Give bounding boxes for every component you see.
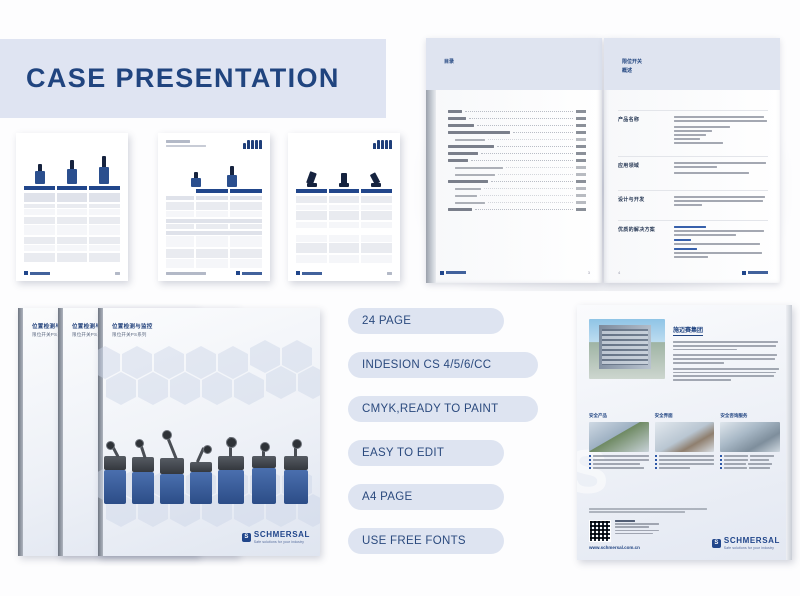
column-photo (589, 422, 649, 452)
feature-list: 24 PAGE INDESION CS 4/5/6/CC CMYK,READY … (348, 308, 538, 572)
brand-logo: S SCHMERSAL Safe solutions for your indu… (712, 537, 780, 550)
toc-subentry (455, 166, 586, 169)
toc-entry (448, 159, 586, 162)
feature-label: USE FREE FONTS (362, 535, 466, 547)
table-header-bar (296, 189, 392, 193)
table-row (24, 237, 120, 244)
feature-pill-page-size[interactable]: A4 PAGE (348, 484, 504, 510)
cover-title-line2: 限位开关PS系列 (112, 332, 153, 338)
bullet-item (589, 459, 649, 461)
lite-logo-icon (373, 140, 392, 149)
bullet-item (720, 467, 780, 469)
table-row (24, 209, 120, 215)
contact-details (615, 520, 659, 536)
qr-code-icon[interactable] (589, 520, 611, 542)
brand-name: SCHMERSAL (254, 531, 310, 539)
building-photo (589, 319, 665, 379)
table-row (24, 225, 120, 235)
website-url[interactable]: www.schmersal.com.cn (589, 545, 659, 550)
toc-entry (448, 145, 586, 148)
table-row (166, 224, 262, 229)
feature-pill-page-count[interactable]: 24 PAGE (348, 308, 504, 334)
table-row (296, 196, 392, 203)
presentation-mockup-canvas: CASE PRESENTATION (0, 0, 800, 596)
feature-pill-fonts[interactable]: USE FREE FONTS (348, 528, 504, 554)
toc-subentry (455, 194, 586, 197)
toc-entry (448, 180, 586, 183)
page-title: CASE PRESENTATION (26, 63, 340, 94)
table-row (296, 205, 392, 210)
spec-table (296, 196, 392, 263)
feature-label: EASY TO EDIT (362, 447, 444, 459)
schmersal-logo-icon (24, 271, 50, 275)
product-lineup (104, 422, 314, 504)
bullet-list (589, 455, 649, 469)
section-body (674, 196, 768, 208)
datasheet-thumbnail-1[interactable] (16, 133, 128, 281)
toc-entry (448, 131, 586, 134)
feature-pill-software[interactable]: INDESION CS 4/5/6/CC (348, 352, 538, 378)
brand-name: SCHMERSAL (724, 537, 780, 545)
feature-label: 24 PAGE (362, 315, 411, 327)
company-heading: 施迈赛集团 (673, 325, 703, 336)
table-row (296, 211, 392, 220)
content-section: 产品名称 (618, 110, 768, 123)
schmersal-mark-icon: S (712, 539, 721, 548)
table-row (24, 204, 120, 208)
column-heading: 安全产品 (589, 413, 649, 419)
limit-switch-product (252, 444, 276, 504)
table-row (166, 259, 262, 268)
bullet-list (655, 455, 715, 469)
column-photo (655, 422, 715, 452)
toc-entry (448, 152, 586, 155)
bullet-item (720, 459, 780, 461)
bullet-item (655, 459, 715, 461)
section-body (674, 116, 768, 146)
table-row (166, 196, 262, 200)
table-row (166, 202, 262, 210)
toc-entry (448, 117, 586, 120)
toc-subentry (455, 201, 586, 204)
capability-column: 安全界面 (655, 413, 715, 471)
limit-switch-product (160, 432, 184, 504)
table-row (166, 249, 262, 258)
book-page-left: 目录 3 (426, 38, 602, 283)
toc-entry (448, 110, 586, 113)
open-book-spread[interactable]: 目录 3 (420, 38, 786, 283)
toc-entry (448, 208, 586, 211)
brochure-cover-front[interactable]: 位置检测与监控 限位开关PS系列 (98, 308, 320, 556)
bullet-item (589, 467, 649, 469)
bullet-item (720, 463, 780, 465)
lite-logo-icon (243, 140, 262, 149)
column-photo (720, 422, 780, 452)
table-row (296, 222, 392, 228)
chapter-title-line1: 限位开关 (622, 58, 642, 67)
content-section: 优质的解决方案 (618, 220, 768, 233)
schmersal-logo-icon (742, 271, 768, 275)
schmersal-mark-icon: S (242, 533, 251, 542)
table-row (166, 236, 262, 247)
page-footer: 4 (618, 270, 768, 275)
column-heading: 安全界面 (655, 413, 715, 419)
toc-entry (448, 124, 586, 127)
feature-label: A4 PAGE (362, 491, 412, 503)
title-banner: CASE PRESENTATION (0, 39, 386, 118)
feature-pill-editability[interactable]: EASY TO EDIT (348, 440, 504, 466)
chapter-title: 限位开关 概述 (622, 58, 642, 75)
table-row (24, 253, 120, 262)
bullet-list (720, 455, 780, 469)
qr-contact-block (589, 520, 659, 542)
spec-table (166, 196, 262, 268)
capability-columns: 安全产品 安全界面 安全咨询 (589, 413, 780, 471)
limit-switch-product (218, 438, 244, 504)
table-row (166, 211, 262, 217)
section-body (674, 226, 768, 260)
section-body (674, 162, 768, 176)
sheet-footer (166, 271, 262, 275)
cover-spine (18, 308, 23, 556)
page-footer: 3 (440, 270, 590, 275)
chapter-title-line2: 概述 (622, 67, 642, 76)
toc-subentry (455, 173, 586, 176)
bullet-item (589, 463, 649, 465)
limit-switch-product (104, 444, 126, 504)
cover-title-line1: 位置检测与监控 (112, 322, 153, 330)
table-row (296, 235, 392, 242)
bullet-item (655, 463, 715, 465)
bullet-item (720, 455, 780, 457)
datasheet-thumbnail-3[interactable] (288, 133, 400, 281)
toc-title: 目录 (444, 58, 454, 67)
sheet-footer (296, 271, 392, 275)
feature-label: INDESION CS 4/5/6/CC (362, 359, 491, 371)
company-paragraph (673, 341, 780, 350)
company-paragraph (673, 354, 780, 363)
capability-column: 安全咨询服务 (720, 413, 780, 471)
sheet-footer (24, 271, 120, 275)
table-header-bar (196, 189, 262, 193)
table-row (296, 243, 392, 253)
cover-spine (786, 305, 792, 560)
table-of-contents (448, 110, 586, 215)
brand-tagline: Safe solutions for your industry (724, 547, 780, 550)
table-row (166, 231, 262, 235)
page-number: 3 (588, 270, 590, 275)
bullet-item (589, 455, 649, 457)
toc-subentry (455, 138, 586, 141)
cover-spine (58, 308, 63, 556)
feature-pill-color-mode[interactable]: CMYK,READY TO PAINT (348, 396, 538, 422)
table-row (296, 255, 392, 263)
toc-subentry (455, 187, 586, 190)
table-header-bar (24, 186, 120, 190)
table-row (296, 229, 392, 233)
table-row (24, 245, 120, 251)
book-page-right: 限位开关 概述 产品名称 应用领域 设计与 (604, 38, 780, 283)
limit-switch-product (284, 440, 308, 504)
feature-label: CMYK,READY TO PAINT (362, 403, 499, 415)
schmersal-logo-icon (296, 271, 322, 275)
company-intro: 施迈赛集团 (589, 319, 780, 383)
table-row (166, 219, 262, 223)
brand-logo: S SCHMERSAL Safe solutions for your indu… (242, 531, 310, 544)
back-cover-footer: www.schmersal.com.cn S SCHMERSAL Safe so… (589, 508, 780, 550)
bullet-item (655, 455, 715, 457)
table-row (24, 193, 120, 202)
schmersal-logo-icon (440, 271, 466, 275)
company-paragraph (673, 368, 780, 381)
content-section: 应用领域 (618, 156, 768, 169)
capability-column: 安全产品 (589, 413, 649, 471)
disclaimer-text (589, 508, 780, 513)
limit-switch-product (190, 448, 212, 504)
brochure-back-cover[interactable]: S 施迈赛集团 安全产品 (577, 305, 792, 560)
page-number: 4 (618, 270, 620, 275)
bullet-item (655, 467, 715, 469)
brand-tagline: Safe solutions for your industry (254, 541, 310, 544)
column-heading: 安全咨询服务 (720, 413, 780, 419)
limit-switch-product (132, 442, 154, 504)
content-section: 设计与开发 (618, 190, 768, 203)
spec-table (24, 193, 120, 262)
schmersal-logo-icon (236, 271, 262, 275)
cover-title: 位置检测与监控 限位开关PS系列 (112, 322, 153, 338)
table-row (24, 217, 120, 224)
datasheet-thumbnail-2[interactable] (158, 133, 270, 281)
